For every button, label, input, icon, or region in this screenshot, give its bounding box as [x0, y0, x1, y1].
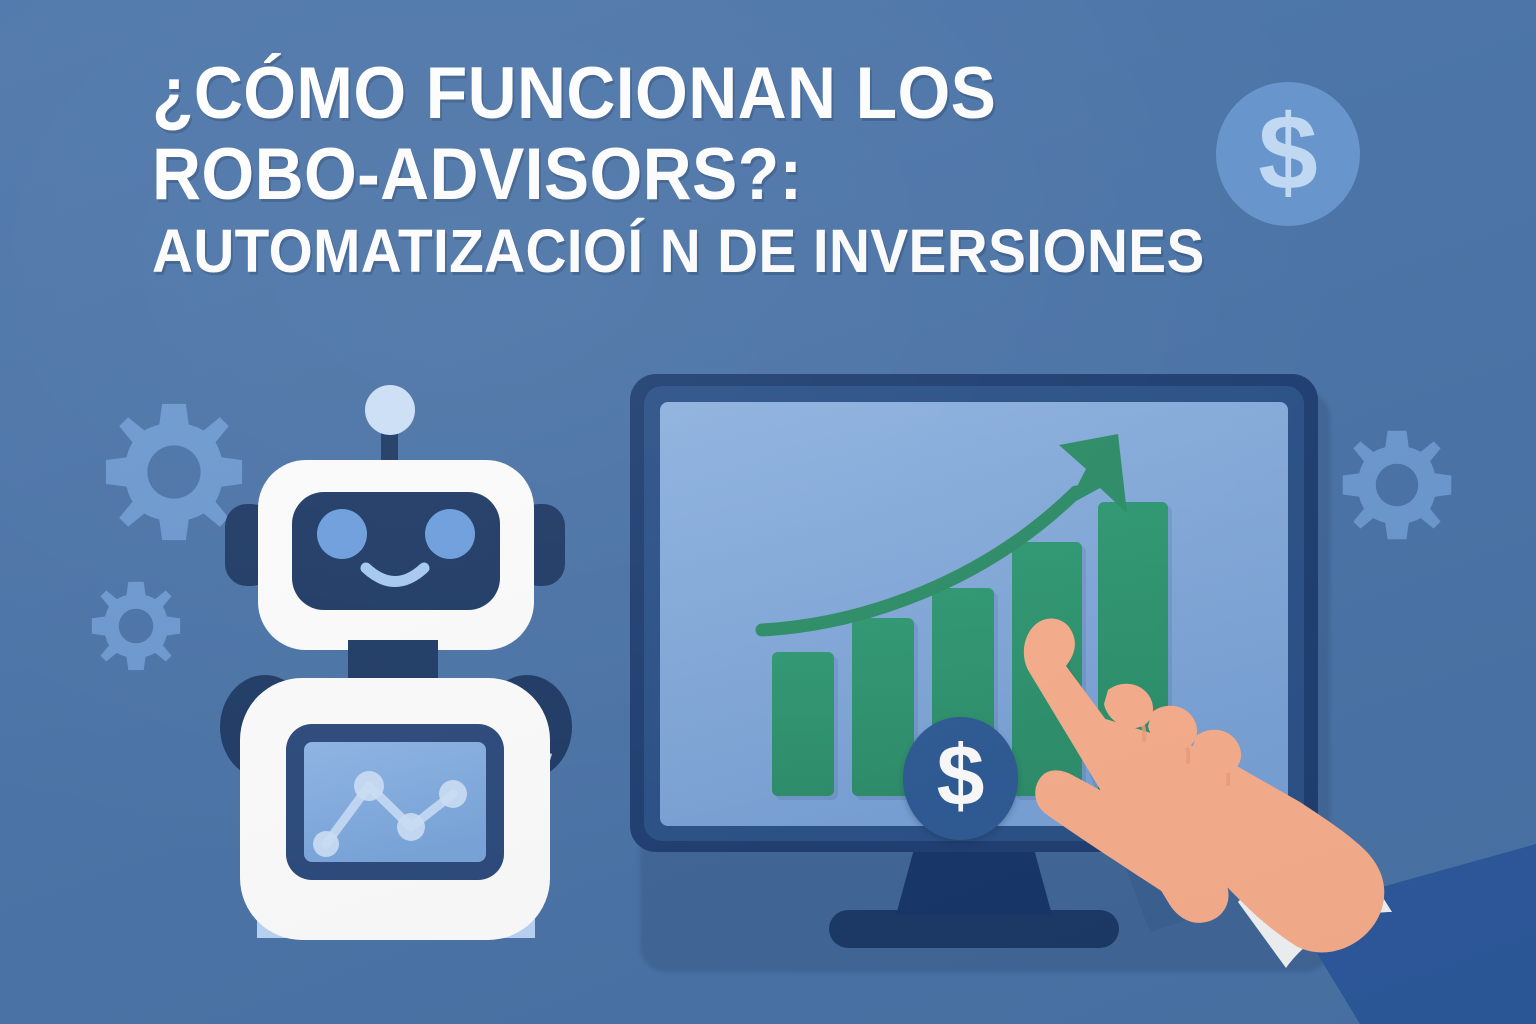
robot-eye-left	[317, 509, 367, 559]
chest-point-3	[397, 813, 425, 841]
chest-point-1	[313, 831, 339, 857]
title-line-2: ROBO-ADVISORS?:	[152, 139, 1342, 211]
chest-point-4	[439, 780, 467, 808]
bar-1	[772, 652, 834, 796]
dollar-sign-icon: $	[937, 733, 985, 819]
robot-mascot	[170, 382, 620, 962]
title-line-1: ¿CÓMO FUNCIONAN LOS	[152, 58, 1342, 130]
robot-neck	[348, 640, 438, 684]
robot-eye-right	[425, 509, 475, 559]
robot-face-panel	[292, 492, 500, 610]
gear-icon	[1338, 426, 1456, 544]
robot-antenna-ball	[365, 385, 415, 435]
pointing-hand	[1000, 612, 1536, 1024]
chest-point-2	[354, 771, 384, 801]
page-title: ¿CÓMO FUNCIONAN LOS ROBO-ADVISORS?: AUTO…	[152, 58, 1432, 281]
title-line-3: AUTOMATIZACIOÍ N DE INVERSIONES	[152, 221, 1342, 281]
poster-canvas: $ ¿CÓMO FUNCIONAN LOS ROBO-ADVISORS?: AU…	[0, 0, 1536, 1024]
